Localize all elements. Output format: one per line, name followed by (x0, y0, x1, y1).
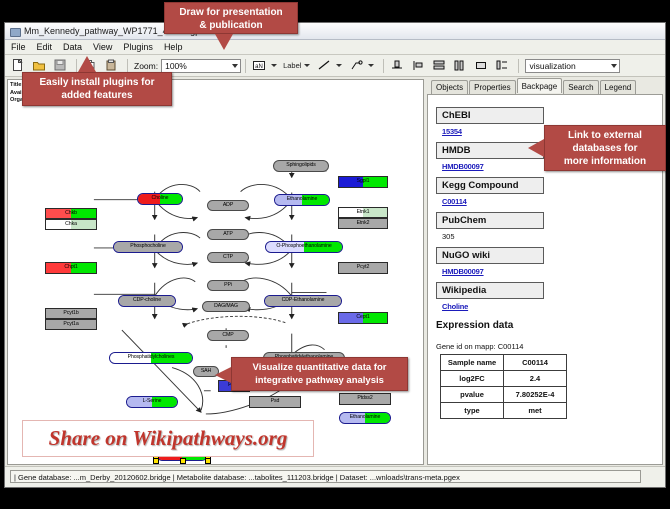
pathway-node-choline-top[interactable]: Choline (137, 193, 183, 205)
node-label: Phosphocholine (130, 244, 166, 249)
toolbar-separator-4 (383, 59, 384, 73)
node-label: Cept1 (356, 315, 369, 320)
side-panel-tabs[interactable]: ObjectsPropertiesBackpageSearchLegend (427, 79, 663, 94)
callout-visualize-arrow-icon (215, 367, 231, 383)
zoom-combobox[interactable]: 100% (161, 59, 241, 73)
pathway-node-phosphocholine[interactable]: Phosphocholine (113, 241, 183, 253)
toolbar-separator-1 (76, 59, 77, 73)
tab-legend[interactable]: Legend (600, 80, 637, 94)
callout-external-line1: Link to external (545, 129, 665, 142)
gene-id-line: Gene id on mapp: C00114 (436, 342, 654, 351)
node-label: Etnk2 (357, 221, 370, 226)
node-label: Chkb (65, 211, 77, 216)
line-dropdown-icon[interactable] (336, 64, 342, 67)
pathway-node-sphingolipids[interactable]: Sphingolipids (273, 160, 329, 172)
interaction-dropdown-icon[interactable] (368, 64, 374, 67)
db-link-nugo-wiki[interactable]: HMDB00097 (442, 267, 654, 276)
node-label: Chpt1 (64, 265, 77, 270)
pathway-node-ppi[interactable]: PPi (207, 280, 249, 291)
pathway-node-cmp[interactable]: CMP (207, 330, 249, 341)
pathway-node-cdp-ethanolamine[interactable]: CDP-Ethanolamine (264, 295, 342, 307)
db-header-wikipedia: Wikipedia (436, 282, 544, 299)
pathway-node-cdp-choline[interactable]: CDP-choline (118, 295, 176, 307)
menu-plugins[interactable]: Plugins (122, 42, 154, 52)
expression-value: met (504, 403, 567, 419)
pathway-node-cept1[interactable]: Cept1 (338, 312, 388, 324)
pathway-node-etnk2[interactable]: Etnk2 (338, 218, 388, 229)
menu-view[interactable]: View (92, 42, 113, 52)
callout-external-line3: more information (545, 155, 665, 168)
node-label: DAG/MAG (214, 304, 238, 309)
expression-row: pvalue7.80252E-4 (441, 387, 567, 403)
node-label: CDP-Ethanolamine (282, 298, 325, 303)
expression-key: log2FC (441, 371, 504, 387)
callout-draw-arrow-icon (215, 34, 233, 50)
node-label: ADP (223, 203, 233, 208)
node-label: PPi (224, 283, 232, 288)
status-bar: | Gene database: ...m_Derby_20120602.bri… (5, 466, 665, 487)
node-label: Sphingolipids (286, 163, 316, 168)
menu-bar: File Edit Data View Plugins Help (5, 40, 665, 55)
callout-install-plugins: Easily install plugins for added feature… (22, 72, 172, 106)
db-header-pubchem: PubChem (436, 212, 544, 229)
expression-row: log2FC2.4 (441, 371, 567, 387)
callout-external-line2: databases for (545, 142, 665, 155)
size-icon[interactable] (451, 56, 470, 75)
expression-row: typemet (441, 403, 567, 419)
callout-draw-line1: Draw for presentation (165, 6, 297, 19)
toolbar-separator-5 (518, 59, 519, 73)
datanode-dropdown-icon[interactable] (271, 64, 277, 67)
toolbar-separator-3 (245, 59, 246, 73)
callout-visualize-data: Visualize quantitative data for integrat… (231, 357, 408, 391)
visualization-combobox[interactable]: visualization (525, 59, 620, 73)
node-label: Ethanolamine (287, 197, 318, 202)
expression-table: Sample nameC00114log2FC2.4pvalue7.80252E… (440, 354, 567, 419)
line-icon[interactable] (315, 56, 334, 75)
node-label: Choline (152, 196, 169, 201)
chevron-down-icon (232, 64, 238, 68)
node-label: SAH (201, 369, 211, 374)
pathway-node-ethanolamine-top[interactable]: Ethanolamine (274, 194, 330, 206)
selection-handle[interactable] (153, 458, 159, 464)
expression-key: pvalue (441, 387, 504, 403)
expression-value: 2.4 (504, 371, 567, 387)
expression-key: type (441, 403, 504, 419)
pathway-node-atp[interactable]: ATP (207, 229, 249, 240)
node-label: CDP-choline (133, 298, 161, 303)
node-label: Pcyt1b (63, 311, 78, 316)
node-label: Chka (65, 222, 77, 227)
db-link-kegg-compound[interactable]: C00114 (442, 197, 654, 206)
pathway-node-pcyt1a[interactable]: Pcyt1a (45, 319, 97, 330)
callout-draw-line2: & publication (165, 19, 297, 32)
chevron-down-icon (611, 64, 617, 68)
node-label: Sgpl1 (357, 179, 370, 184)
pathway-node-phosphatidylcholines[interactable]: Phosphatidylcholines (109, 352, 193, 364)
pathway-node-o-phosphoethanolamine[interactable]: O-Phosphoethanolamine (265, 241, 343, 253)
pathway-node-chkb[interactable]: Chkb (45, 208, 97, 219)
callout-visualize-line1: Visualize quantitative data for (232, 361, 407, 374)
screenshot-root: Mm_Kennedy_pathway_WP1771_45176.gpml Fil… (0, 0, 670, 509)
pathway-node-sgpl1[interactable]: Sgpl1 (338, 176, 388, 188)
menu-edit[interactable]: Edit (36, 42, 54, 52)
zoom-value: 100% (165, 61, 187, 71)
pathway-node-chpt1[interactable]: Chpt1 (45, 262, 97, 274)
node-label: Ethanolamine (350, 415, 381, 420)
menu-data[interactable]: Data (62, 42, 83, 52)
interaction-icon[interactable] (347, 56, 366, 75)
db-header-chebi: ChEBI (436, 107, 544, 124)
expression-key: Sample name (441, 355, 504, 371)
expression-value: 7.80252E-4 (504, 387, 567, 403)
selection-handle[interactable] (180, 458, 186, 464)
zoom-label: Zoom: (134, 61, 158, 71)
expression-row: Sample nameC00114 (441, 355, 567, 371)
tab-backpage[interactable]: Backpage (517, 78, 563, 93)
node-label: CMP (222, 333, 233, 338)
pathway-node-dagmag[interactable]: DAG/MAG (202, 301, 250, 312)
pathway-node-chka[interactable]: Chka (45, 219, 97, 230)
pathway-node-adp[interactable]: ADP (207, 200, 249, 211)
node-label: CTP (223, 255, 233, 260)
node-label: Phosphatidylcholines (128, 355, 175, 360)
share-banner-text: Share on Wikipathways.org (49, 426, 288, 451)
db-header-nugo-wiki: NuGO wiki (436, 247, 544, 264)
node-label: Pcyt1a (63, 322, 78, 327)
svg-text:aN: aN (255, 64, 263, 70)
share-on-wikipathways-banner: Share on Wikipathways.org (22, 420, 314, 457)
callout-plugins-line2: added features (23, 89, 171, 102)
tab-search[interactable]: Search (563, 80, 598, 94)
menu-help[interactable]: Help (163, 42, 184, 52)
visualization-value: visualization (529, 61, 575, 71)
pathway-drawing[interactable]: Title: Availa Organ (8, 80, 423, 464)
label-tool-label[interactable]: Label (283, 61, 301, 70)
pathway-node-ctp[interactable]: CTP (207, 252, 249, 263)
expression-value: C00114 (504, 355, 567, 371)
tab-objects[interactable]: Objects (431, 80, 468, 94)
expression-data-heading: Expression data (436, 320, 654, 331)
pathway-node-ptdss2[interactable]: Ptdss2 (339, 393, 391, 405)
node-label: Pcyt2 (357, 265, 369, 270)
pathway-node-psd[interactable]: Psd (249, 396, 301, 408)
tab-properties[interactable]: Properties (469, 80, 515, 94)
stack-icon[interactable] (430, 56, 449, 75)
order-icon[interactable] (493, 56, 512, 75)
pathway-node-pcyt1b[interactable]: Pcyt1b (45, 308, 97, 319)
title-bar: Mm_Kennedy_pathway_WP1771_45176.gpml (5, 23, 665, 40)
menu-file[interactable]: File (10, 42, 27, 52)
callout-plugins-arrow-icon (78, 56, 96, 72)
callout-external-links: Link to external databases for more info… (544, 125, 666, 171)
node-label: Ptdss2 (357, 396, 372, 401)
db-link-wikipedia[interactable]: Choline (442, 302, 654, 311)
callout-draw-for-publication: Draw for presentation & publication (164, 2, 298, 34)
node-label: L-Serine (143, 399, 162, 404)
pathway-canvas[interactable]: Title: Availa Organ (7, 79, 424, 465)
node-label: Etnk1 (357, 210, 370, 215)
callout-external-arrow-icon (528, 139, 544, 157)
db-value-pubchem: 305 (442, 232, 654, 241)
distribute-icon[interactable] (409, 56, 428, 75)
pathway-node-pcyt2[interactable]: Pcyt2 (338, 262, 388, 274)
node-label: O-Phosphoethanolamine (276, 244, 331, 249)
node-label: Psd (271, 399, 280, 404)
group-icon[interactable] (472, 56, 491, 75)
pathway-node-ethanolamine-right[interactable]: Ethanolamine (339, 412, 391, 424)
pathway-node-l-serine-left[interactable]: L-Serine (126, 396, 178, 408)
datanode-icon[interactable]: aN (250, 56, 269, 75)
pathway-node-etnk1[interactable]: Etnk1 (338, 207, 388, 218)
callout-visualize-line2: integrative pathway analysis (232, 374, 407, 387)
selection-handle[interactable] (205, 458, 211, 464)
label-dropdown-icon[interactable] (304, 64, 310, 67)
node-label: ATP (223, 232, 232, 237)
align-icon[interactable] (388, 56, 407, 75)
pathvisio-app-icon (9, 26, 20, 37)
db-header-kegg-compound: Kegg Compound (436, 177, 544, 194)
status-text: | Gene database: ...m_Derby_20120602.bri… (10, 470, 641, 483)
callout-plugins-line1: Easily install plugins for (23, 76, 171, 89)
toolbar-separator-2 (127, 59, 128, 73)
